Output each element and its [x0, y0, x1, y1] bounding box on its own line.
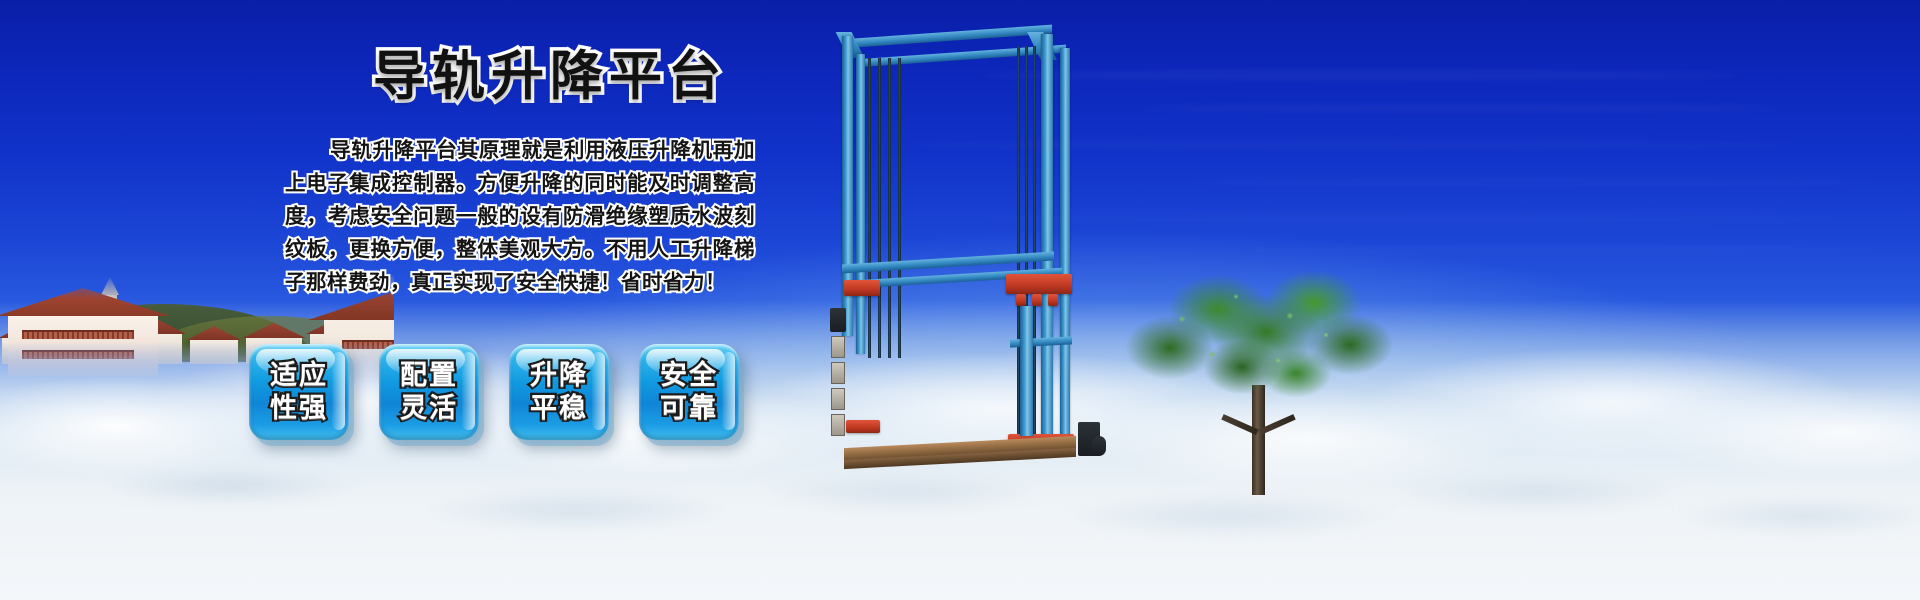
chalet-balcony [22, 330, 134, 339]
lift-control-cabinet [830, 308, 846, 332]
guide-rail-lift-platform-product [820, 18, 1120, 478]
lift-carriage-red-right [1006, 274, 1072, 294]
product-banner: 导轨升降平台 导轨升降平台其原理就是利用液压升降机再加上电子集成控制器。方便升降… [0, 0, 1920, 600]
lift-rear-right-post [1060, 48, 1070, 452]
village-house [190, 340, 238, 364]
cirrus-cloud-streak [1180, 178, 1880, 186]
lift-top-beam [842, 25, 1052, 49]
lift-guide-rail [878, 58, 881, 358]
feature-badge-line2: 平稳 [530, 392, 588, 425]
lift-base-red-left [846, 420, 880, 433]
hydraulic-cylinder [1020, 306, 1033, 436]
lift-guide-rail [868, 58, 871, 358]
lift-guide-rail [898, 58, 901, 358]
cirrus-cloud-streak [1240, 246, 1880, 254]
lift-sheave-block [1048, 294, 1058, 306]
tree-canopy [1110, 255, 1410, 415]
description-text: 导轨升降平台其原理就是利用液压升降机再加上电子集成控制器。方便升降的同时能及时调… [285, 134, 755, 299]
lift-side-panel [831, 388, 845, 410]
feature-badge-safety[interactable]: 安全 可靠 [639, 344, 739, 440]
feature-badge-line1: 适应 [270, 359, 328, 392]
description-block: 导轨升降平台其原理就是利用液压升降机再加上电子集成控制器。方便升降的同时能及时调… [285, 134, 755, 299]
page-title: 导轨升降平台 [373, 50, 727, 103]
lift-front-right-post [1041, 34, 1053, 454]
feature-badge-line2: 性强 [270, 392, 328, 425]
lift-side-panel [831, 362, 845, 384]
lift-guide-rail [1033, 46, 1036, 441]
feature-badge-configuration[interactable]: 配置 灵活 [379, 344, 479, 440]
lift-side-panel [831, 414, 845, 436]
feature-badge-line2: 可靠 [660, 392, 718, 425]
lift-sheave-block [1016, 294, 1026, 306]
lift-rear-left-post [856, 54, 865, 354]
feature-badge-line2: 灵活 [400, 392, 458, 425]
foreground-chalet [8, 314, 158, 376]
lift-side-panel [831, 336, 845, 358]
feature-badge-line1: 升降 [530, 359, 588, 392]
feature-badge-smooth-lifting[interactable]: 升降 平稳 [509, 344, 609, 440]
feature-badge-line1: 安全 [660, 359, 718, 392]
chalet-balcony [22, 350, 134, 359]
hydraulic-pump-motor [1092, 436, 1106, 456]
lift-sheave-block [1032, 294, 1042, 306]
cirrus-cloud-streak [1140, 104, 1780, 112]
feature-badge-adaptability[interactable]: 适应 性强 [249, 344, 349, 440]
green-tree [1110, 255, 1410, 495]
lift-carriage-red-left [844, 280, 880, 296]
feature-badge-line1: 配置 [400, 359, 458, 392]
feature-badge-list: 适应 性强 配置 灵活 升降 平稳 安全 可靠 [249, 344, 739, 440]
lift-guide-rail [888, 58, 891, 358]
